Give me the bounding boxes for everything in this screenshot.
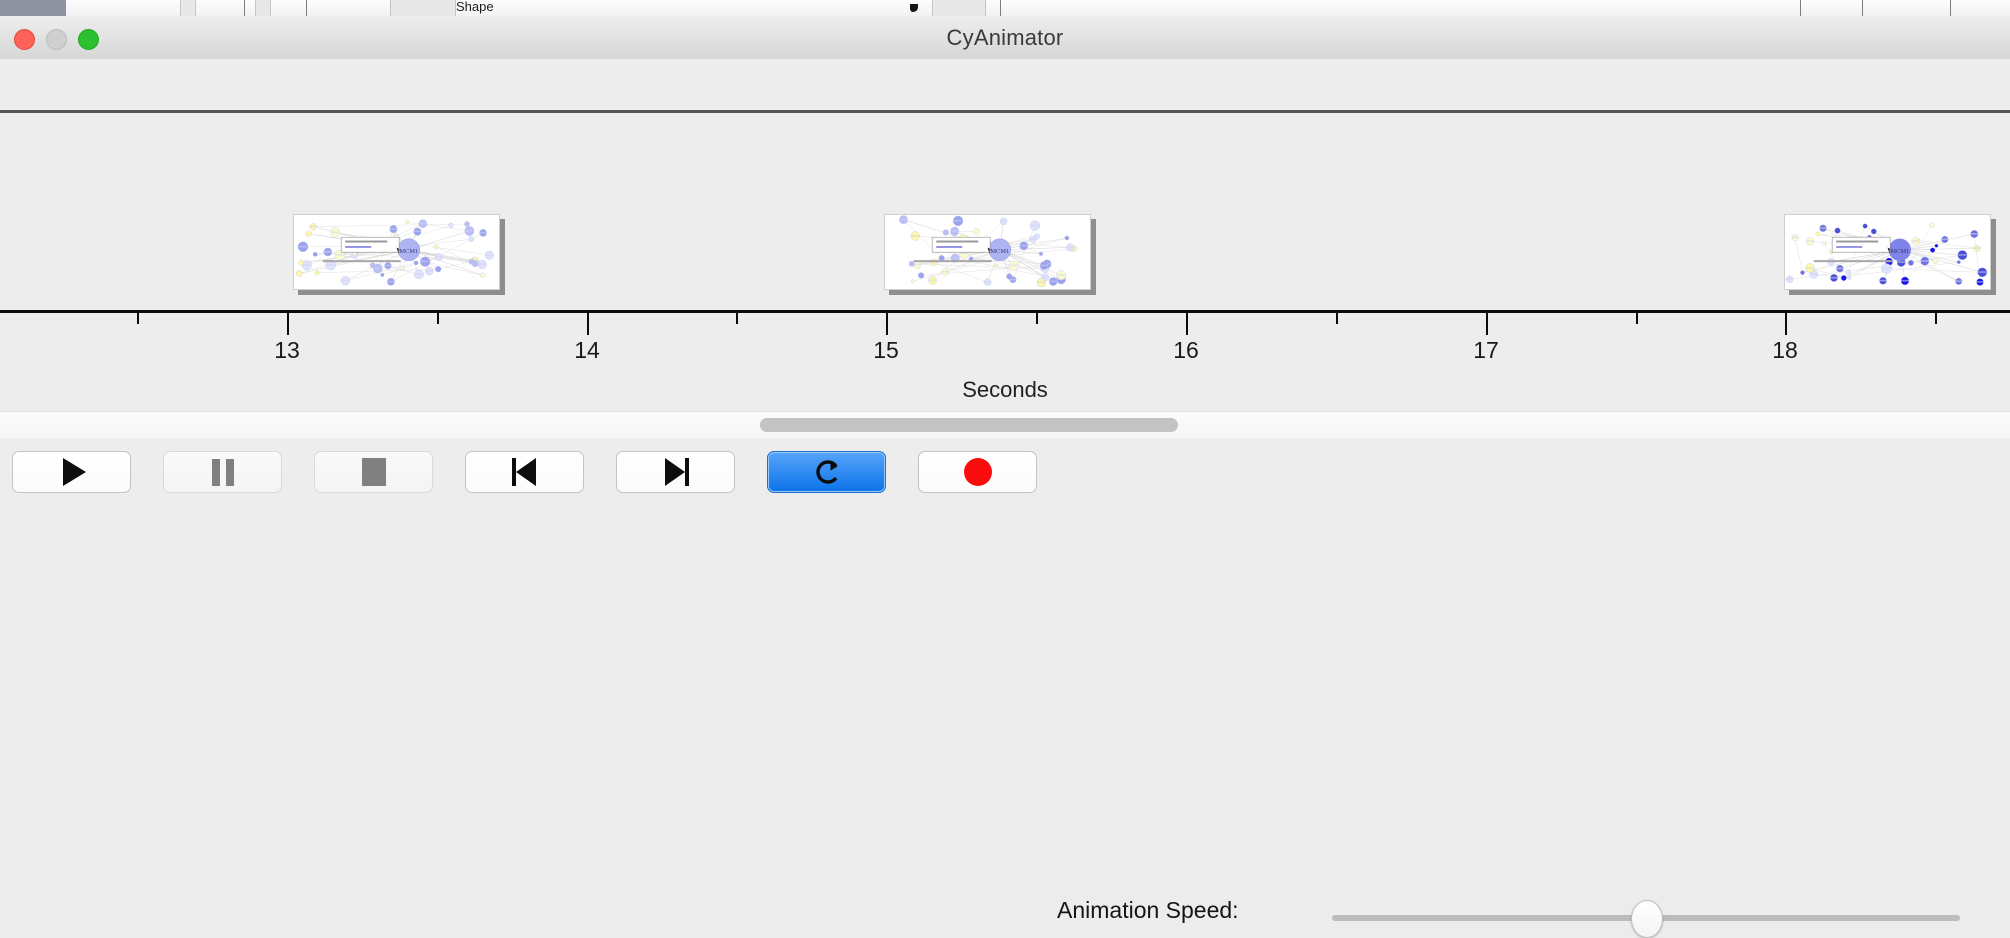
background-window-divider bbox=[244, 0, 245, 16]
skip-start-button[interactable] bbox=[465, 451, 584, 493]
cyanimator-window: Shape CyAnimator + Clear All Frames bbox=[0, 0, 2010, 510]
svg-text:MCM1: MCM1 bbox=[399, 248, 418, 255]
background-window-tab bbox=[180, 0, 196, 16]
background-window-divider bbox=[1000, 0, 1001, 16]
background-window-divider bbox=[1800, 0, 1801, 16]
scrollbar-thumb[interactable] bbox=[760, 418, 1178, 432]
pause-icon bbox=[212, 459, 234, 486]
title-bar: CyAnimator bbox=[0, 16, 2010, 60]
axis-tick-minor bbox=[736, 313, 738, 324]
play-button[interactable] bbox=[12, 451, 131, 493]
background-window-marker bbox=[910, 4, 918, 12]
stop-button bbox=[314, 451, 433, 493]
axis-tick-label: 13 bbox=[274, 337, 300, 364]
network-thumbnail-graphic: MCM1 bbox=[1785, 215, 1990, 289]
timeline-frame-thumbnail[interactable]: MCM1 bbox=[1784, 214, 1996, 294]
frame-body: MCM1 bbox=[884, 214, 1091, 290]
background-window-divider bbox=[1862, 0, 1863, 16]
skip-end-icon bbox=[663, 458, 689, 486]
svg-text:MCM1: MCM1 bbox=[990, 248, 1009, 255]
axis-tick-minor bbox=[1636, 313, 1638, 324]
playback-bar: Animation Speed: bbox=[0, 438, 2010, 510]
timeline-frame-thumbnail[interactable]: MCM1 bbox=[293, 214, 505, 294]
animation-speed-slider-thumb[interactable] bbox=[1631, 900, 1663, 938]
stop-icon bbox=[362, 458, 386, 486]
network-thumbnail-graphic: MCM1 bbox=[885, 215, 1090, 289]
axis-tick-label: 14 bbox=[574, 337, 600, 364]
loop-icon bbox=[812, 457, 842, 487]
axis-caption: Seconds bbox=[0, 377, 2010, 403]
axis-tick-minor bbox=[1036, 313, 1038, 324]
window-title: CyAnimator bbox=[0, 16, 2010, 59]
animation-speed-label: Animation Speed: bbox=[1057, 897, 1239, 924]
skip-end-button[interactable] bbox=[616, 451, 735, 493]
background-window-dark-panel bbox=[0, 0, 66, 16]
play-icon bbox=[63, 458, 86, 486]
skip-start-icon bbox=[512, 458, 538, 486]
axis-tick-label: 16 bbox=[1173, 337, 1199, 364]
axis-tick-major bbox=[1186, 313, 1188, 335]
pause-button bbox=[163, 451, 282, 493]
record-button[interactable] bbox=[918, 451, 1037, 493]
toolbar: + Clear All Frames bbox=[0, 59, 2010, 110]
timeline-panel[interactable]: MCM1 MCM1 MCM1 2131415161718 Seconds bbox=[0, 113, 2010, 411]
axis-tick-minor bbox=[437, 313, 439, 324]
background-window-divider bbox=[1950, 0, 1951, 16]
loop-button[interactable] bbox=[767, 451, 886, 493]
axis-tick-major bbox=[1486, 313, 1488, 335]
axis-tick-minor bbox=[1336, 313, 1338, 324]
axis-tick-major bbox=[886, 313, 888, 335]
frame-body: MCM1 bbox=[1784, 214, 1991, 290]
timeline-frame-thumbnail[interactable]: MCM1 bbox=[884, 214, 1096, 294]
timeline-scrollbar[interactable] bbox=[0, 411, 2010, 439]
frame-body: MCM1 bbox=[293, 214, 500, 290]
timeline-axis bbox=[0, 310, 2010, 313]
axis-tick-major bbox=[587, 313, 589, 335]
background-window-tab bbox=[255, 0, 271, 16]
axis-tick-label: 15 bbox=[873, 337, 899, 364]
svg-text:MCM1: MCM1 bbox=[1890, 248, 1909, 255]
record-icon bbox=[964, 458, 992, 486]
network-thumbnail-graphic: MCM1 bbox=[294, 215, 499, 289]
background-window-tab bbox=[390, 0, 456, 16]
background-window-tab bbox=[932, 0, 986, 16]
axis-tick-label: 17 bbox=[1473, 337, 1499, 364]
background-window-label: Shape bbox=[456, 0, 494, 14]
axis-tick-label: 18 bbox=[1772, 337, 1798, 364]
axis-tick-minor bbox=[1935, 313, 1937, 324]
background-window-divider bbox=[306, 0, 307, 16]
axis-tick-major bbox=[1785, 313, 1787, 335]
background-window-strip: Shape bbox=[0, 0, 2010, 17]
axis-tick-minor bbox=[137, 313, 139, 324]
axis-tick-major bbox=[287, 313, 289, 335]
